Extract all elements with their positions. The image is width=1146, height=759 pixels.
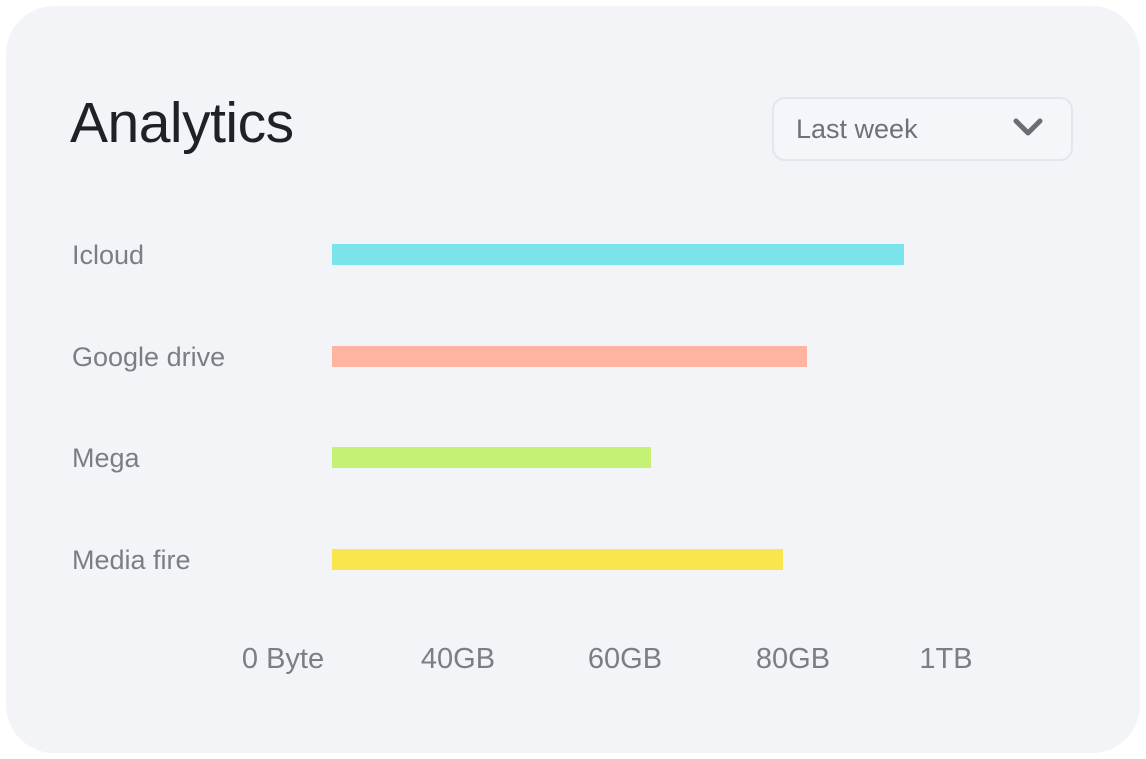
x-axis-tick: 1TB: [919, 634, 972, 684]
chart-row-mega: Mega: [6, 438, 1140, 478]
chart-row-icloud: Icloud: [6, 235, 1140, 275]
chart-row-label: Media fire: [72, 540, 191, 580]
chart-row-label: Google drive: [72, 337, 225, 377]
bar-google-drive[interactable]: [332, 346, 807, 367]
x-axis-tick: 0 Byte: [242, 634, 324, 684]
chart-row-label: Icloud: [72, 235, 144, 275]
x-axis: 0 Byte 40GB 60GB 80GB 1TB: [6, 634, 1140, 684]
bar-media-fire[interactable]: [332, 549, 783, 570]
bar-icloud[interactable]: [332, 244, 904, 265]
bar-track: [332, 540, 1032, 580]
storage-bar-chart: Icloud Google drive Mega Media fire 0 By: [6, 6, 1140, 753]
chart-row-label: Mega: [72, 438, 140, 478]
chart-row-media-fire: Media fire: [6, 540, 1140, 580]
chart-row-google-drive: Google drive: [6, 337, 1140, 377]
bar-track: [332, 337, 1032, 377]
x-axis-tick: 80GB: [756, 634, 830, 684]
bar-track: [332, 438, 1032, 478]
x-axis-tick: 60GB: [588, 634, 662, 684]
analytics-card: Analytics Last week Icloud Google drive …: [6, 6, 1140, 753]
x-axis-tick: 40GB: [421, 634, 495, 684]
bar-mega[interactable]: [332, 447, 651, 468]
bar-track: [332, 235, 1032, 275]
